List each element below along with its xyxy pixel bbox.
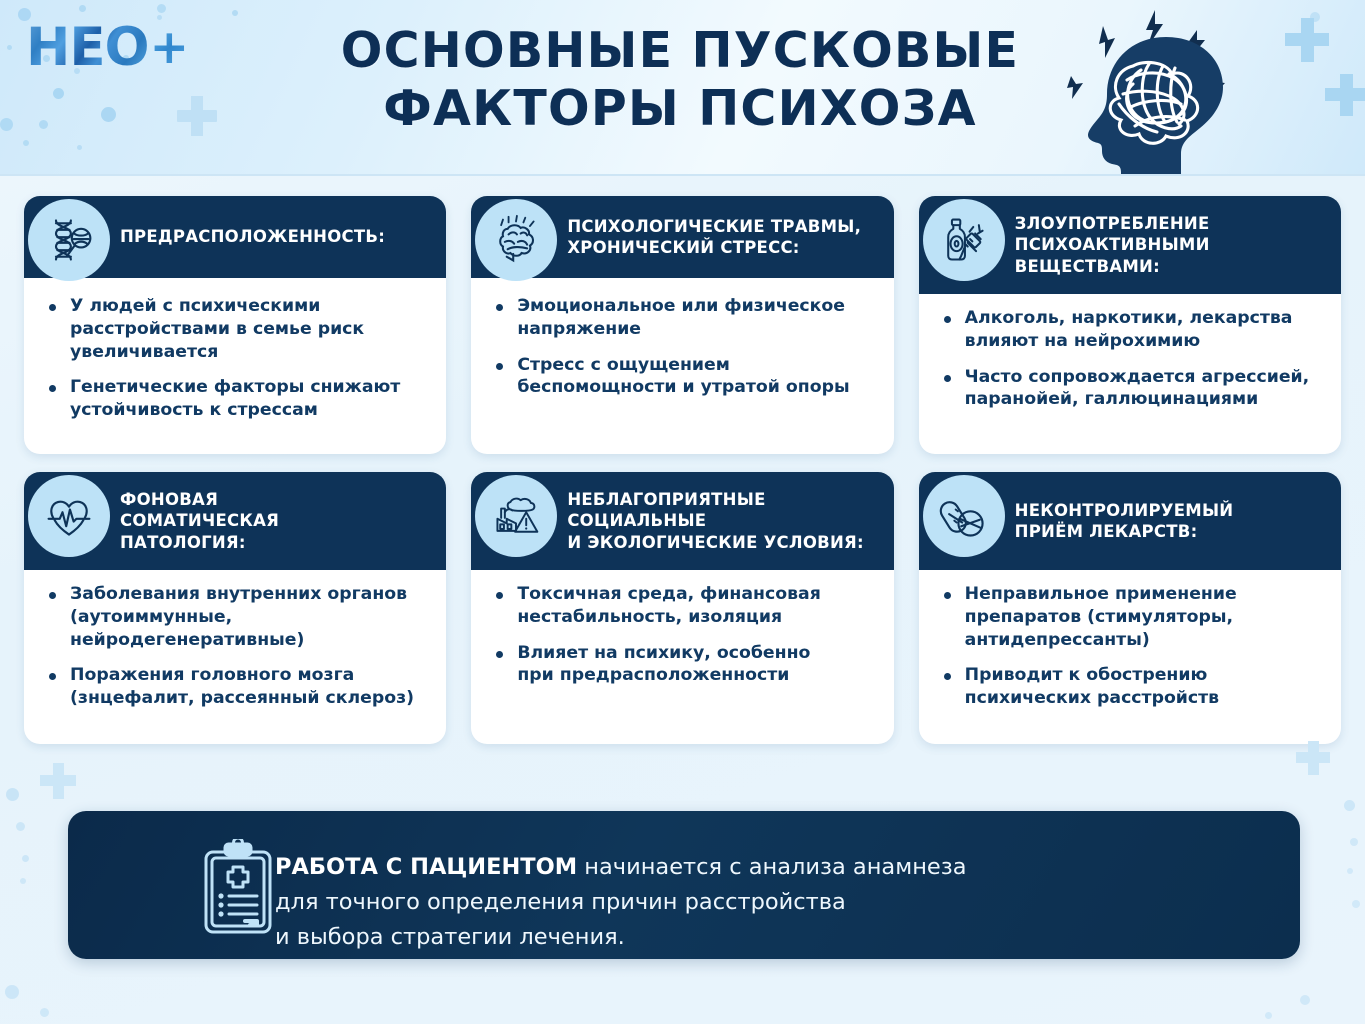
card-title: НЕКОНТРОЛИРУЕМЫЙ ПРИЁМ ЛЕКАРСТВ: xyxy=(1015,500,1234,542)
pills-icon xyxy=(923,475,1005,557)
decor-bubble xyxy=(0,118,13,131)
card-body: Эмоциональное или физическое напряжение … xyxy=(471,278,893,422)
factory-warning-icon xyxy=(475,475,557,557)
decor-bubble xyxy=(20,878,26,884)
heart-pulse-icon xyxy=(28,475,110,557)
infographic-page: НЕО + ОСНОВНЫЕ ПУСКОВЫЕ ФАКТОРЫ ПСИХОЗА xyxy=(0,0,1365,1024)
card-body: Неправильное применение препаратов (стим… xyxy=(919,570,1341,733)
list-item: Токсичная среда, финансовая нестабильнос… xyxy=(493,583,875,629)
card-body: Токсичная среда, финансовая нестабильнос… xyxy=(471,570,893,710)
patient-work-banner: РАБОТА С ПАЦИЕНТОМ начинается с анализа … xyxy=(68,811,1300,959)
decor-bubble xyxy=(232,10,238,16)
card-header: НЕБЛАГОПРИЯТНЫЕ СОЦИАЛЬНЫЕ И ЭКОЛОГИЧЕСК… xyxy=(471,472,893,570)
bullet-list: Токсичная среда, финансовая нестабильнос… xyxy=(493,583,875,687)
list-item: У людей с психическими расстройствами в … xyxy=(46,295,428,363)
card-title: ФОНОВАЯ СОМАТИЧЕСКАЯ ПАТОЛОГИЯ: xyxy=(120,489,279,552)
page-title-line-2: ФАКТОРЫ ПСИХОЗА xyxy=(330,80,1030,138)
cards-row-1: ПРЕДРАСПОЛОЖЕННОСТЬ: У людей с психическ… xyxy=(24,196,1341,454)
list-item: Алкоголь, наркотики, лекарства влияют на… xyxy=(941,307,1323,353)
bullet-list: Заболевания внутренних органов (аутоимму… xyxy=(46,583,428,710)
decor-cross-icon xyxy=(177,110,217,122)
card-title: ПСИХОЛОГИЧЕСКИЕ ТРАВМЫ, ХРОНИЧЕСКИЙ СТРЕ… xyxy=(567,216,861,258)
decor-bubble xyxy=(79,5,86,12)
bottle-syringe-icon xyxy=(923,199,1005,281)
decor-cross-icon xyxy=(1296,752,1330,763)
card-title: НЕБЛАГОПРИЯТНЫЕ СОЦИАЛЬНЫЕ И ЭКОЛОГИЧЕСК… xyxy=(567,489,864,552)
decor-bubble xyxy=(6,788,19,801)
decor-bubble xyxy=(1344,800,1355,811)
page-title: ОСНОВНЫЕ ПУСКОВЫЕ ФАКТОРЫ ПСИХОЗА xyxy=(330,22,1030,138)
decor-bubble xyxy=(1347,868,1353,874)
decor-bubble xyxy=(40,1008,49,1017)
card-social-ecological[interactable]: НЕБЛАГОПРИЯТНЫЕ СОЦИАЛЬНЫЕ И ЭКОЛОГИЧЕСК… xyxy=(471,472,893,744)
card-psychological-trauma[interactable]: ПСИХОЛОГИЧЕСКИЕ ТРАВМЫ, ХРОНИЧЕСКИЙ СТРЕ… xyxy=(471,196,893,454)
list-item: Приводит к обострению психических расстр… xyxy=(941,664,1323,710)
cards-grid: ПРЕДРАСПОЛОЖЕННОСТЬ: У людей с психическ… xyxy=(24,196,1341,762)
bullet-list: У людей с психическими расстройствами в … xyxy=(46,295,428,422)
stressed-brain-icon xyxy=(475,199,557,281)
decor-bubble xyxy=(1300,995,1310,1005)
decor-bubble xyxy=(16,822,25,831)
card-predisposition[interactable]: ПРЕДРАСПОЛОЖЕННОСТЬ: У людей с психическ… xyxy=(24,196,446,454)
list-item: Стресс с ощущением беспомощности и утрат… xyxy=(493,354,875,400)
list-item: Эмоциональное или физическое напряжение xyxy=(493,295,875,341)
card-title: ЗЛОУПОТРЕБЛЕНИЕ ПСИХОАКТИВНЫМИ ВЕЩЕСТВАМ… xyxy=(1015,213,1210,276)
card-uncontrolled-medication[interactable]: НЕКОНТРОЛИРУЕМЫЙ ПРИЁМ ЛЕКАРСТВ: Неправи… xyxy=(919,472,1341,744)
decor-bubble xyxy=(39,120,48,129)
brand-logo-plus-icon: + xyxy=(150,24,189,71)
list-item: Генетические факторы снижают устойчивост… xyxy=(46,376,428,422)
decor-bubble xyxy=(1265,1012,1272,1019)
decor-bubble xyxy=(101,107,116,122)
card-header: ПРЕДРАСПОЛОЖЕННОСТЬ: xyxy=(24,196,446,278)
clipboard-medical-icon xyxy=(192,839,284,935)
decor-bubble xyxy=(5,985,19,999)
decor-bubble xyxy=(22,855,29,862)
page-title-line-1: ОСНОВНЫЕ ПУСКОВЫЕ xyxy=(330,22,1030,80)
brand-logo-text: НЕО xyxy=(26,21,149,74)
decor-bubble xyxy=(53,88,64,99)
list-item: Неправильное применение препаратов (стим… xyxy=(941,583,1323,651)
bullet-list: Алкоголь, наркотики, лекарства влияют на… xyxy=(941,307,1323,411)
card-body: Алкоголь, наркотики, лекарства влияют на… xyxy=(919,294,1341,434)
card-header: НЕКОНТРОЛИРУЕМЫЙ ПРИЁМ ЛЕКАРСТВ: xyxy=(919,472,1341,570)
card-title: ПРЕДРАСПОЛОЖЕННОСТЬ: xyxy=(120,226,385,247)
card-substance-abuse[interactable]: ЗЛОУПОТРЕБЛЕНИЕ ПСИХОАКТИВНЫМИ ВЕЩЕСТВАМ… xyxy=(919,196,1341,454)
list-item: Часто сопровождается агрессией, паранойе… xyxy=(941,366,1323,412)
card-header: ФОНОВАЯ СОМАТИЧЕСКАЯ ПАТОЛОГИЯ: xyxy=(24,472,446,570)
header-banner: НЕО + ОСНОВНЫЕ ПУСКОВЫЕ ФАКТОРЫ ПСИХОЗА xyxy=(0,0,1365,176)
decor-bubble xyxy=(1352,900,1360,908)
decor-cross-icon xyxy=(1285,33,1329,46)
card-body: Заболевания внутренних органов (аутоимму… xyxy=(24,570,446,733)
brand-logo[interactable]: НЕО + xyxy=(26,16,206,78)
cards-row-2: ФОНОВАЯ СОМАТИЧЕСКАЯ ПАТОЛОГИЯ: Заболева… xyxy=(24,472,1341,744)
list-item: Влияет на психику, особенно при предрасп… xyxy=(493,642,875,688)
decor-cross-icon xyxy=(40,775,76,786)
card-header: ЗЛОУПОТРЕБЛЕНИЕ ПСИХОАКТИВНЫМИ ВЕЩЕСТВАМ… xyxy=(919,196,1341,294)
list-item: Заболевания внутренних органов (аутоимму… xyxy=(46,583,428,651)
decor-bubble xyxy=(7,45,12,50)
dna-magnifier-icon xyxy=(28,199,110,281)
bullet-list: Эмоциональное или физическое напряжение … xyxy=(493,295,875,399)
decor-cross-icon xyxy=(1325,88,1365,101)
card-body: У людей с психическими расстройствами в … xyxy=(24,278,446,445)
decor-bubble xyxy=(1350,838,1358,846)
head-with-tangled-thoughts-icon xyxy=(1063,4,1253,176)
list-item: Поражения головного мозга (знцефалит, ра… xyxy=(46,664,428,710)
decor-bubble xyxy=(23,140,29,146)
bullet-list: Неправильное применение препаратов (стим… xyxy=(941,583,1323,710)
banner-text: РАБОТА С ПАЦИЕНТОМ начинается с анализа … xyxy=(275,815,967,955)
card-header: ПСИХОЛОГИЧЕСКИЕ ТРАВМЫ, ХРОНИЧЕСКИЙ СТРЕ… xyxy=(471,196,893,278)
decor-bubble xyxy=(77,145,82,150)
decor-bubble xyxy=(157,4,166,13)
card-somatic-pathology[interactable]: ФОНОВАЯ СОМАТИЧЕСКАЯ ПАТОЛОГИЯ: Заболева… xyxy=(24,472,446,744)
banner-strong-text: РАБОТА С ПАЦИЕНТОМ xyxy=(275,854,577,880)
